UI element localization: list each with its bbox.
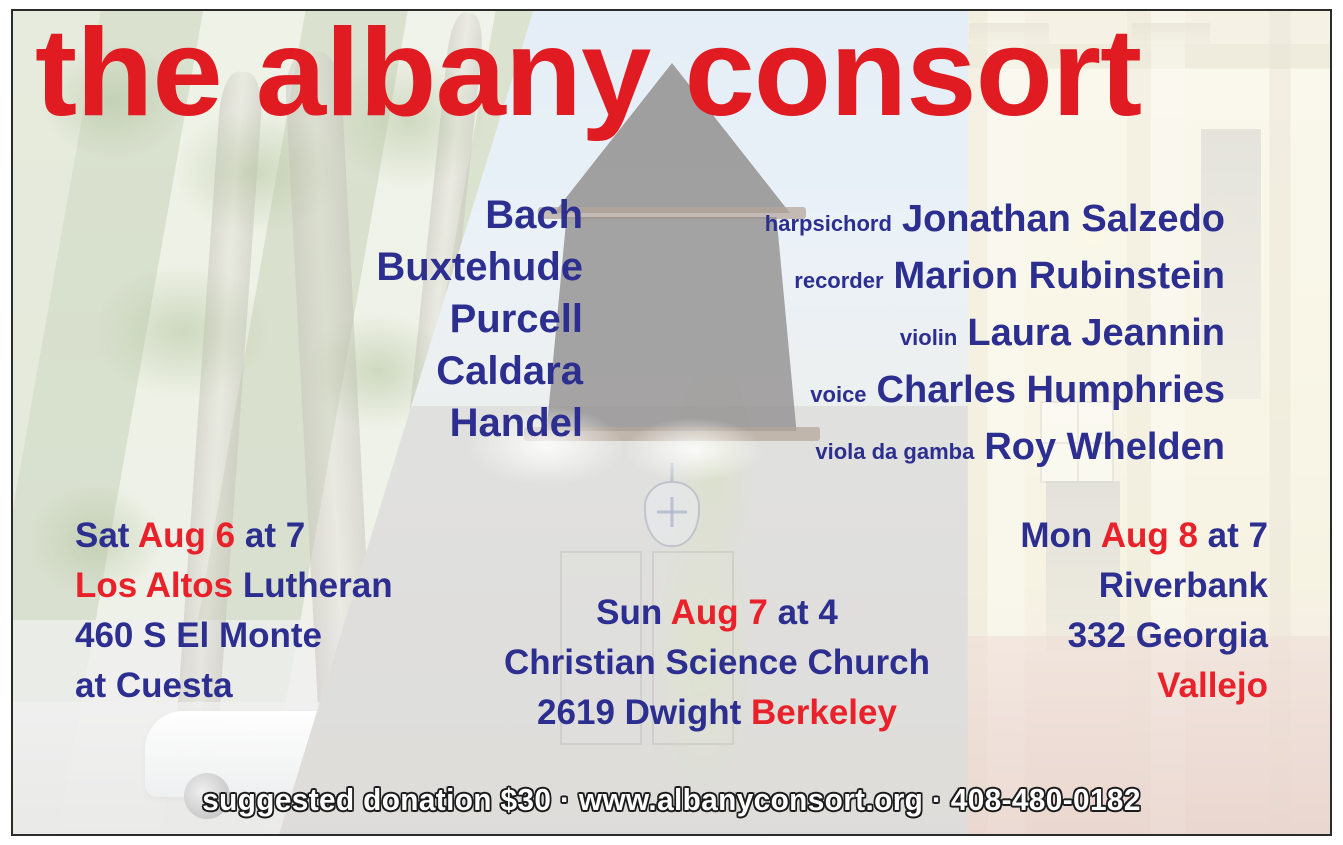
- concert-text: 2619 Dwight: [537, 693, 751, 732]
- poster-frame: the albany consort BachBuxtehudePurcellC…: [11, 9, 1332, 836]
- performer-row: recorderMarion Rubinstein: [625, 250, 1225, 307]
- concert-text: at 7: [1198, 516, 1268, 555]
- composer-name: Buxtehude: [253, 241, 583, 293]
- concert-text: 460 S El Monte: [75, 616, 322, 655]
- footer-info: suggested donation $30 · www.albanyconso…: [39, 782, 1303, 818]
- performer-row: viola da gambaRoy Whelden: [625, 421, 1225, 478]
- performer-row: harpsichordJonathan Salzedo: [625, 193, 1225, 250]
- concert-text: Riverbank: [1099, 566, 1268, 605]
- composer-name: Bach: [253, 189, 583, 241]
- concert-line: 460 S El Monte: [75, 611, 393, 661]
- concert-line: Christian Science Church: [447, 638, 987, 688]
- composer-name: Caldara: [253, 345, 583, 397]
- concert-text: Mon: [1020, 516, 1100, 555]
- concert-text: 332 Georgia: [1068, 616, 1268, 655]
- concert-text: at Cuesta: [75, 666, 233, 705]
- performer-name: Jonathan Salzedo: [902, 193, 1225, 245]
- performer-name: Marion Rubinstein: [894, 250, 1225, 302]
- concert-highlight-text: Vallejo: [1157, 666, 1268, 705]
- performer-name: Laura Jeannin: [967, 307, 1225, 359]
- composer-name: Handel: [253, 397, 583, 449]
- performer-name: Charles Humphries: [877, 364, 1225, 416]
- concert-listing-berkeley: Sun Aug 7 at 4Christian Science Church26…: [447, 588, 987, 738]
- concert-line: Vallejo: [1020, 661, 1268, 711]
- performer-instrument: violin: [900, 312, 957, 364]
- concert-line: Mon Aug 8 at 7: [1020, 511, 1268, 561]
- concert-highlight-text: Aug 7: [671, 593, 768, 632]
- performer-instrument: voice: [810, 369, 866, 421]
- concert-text: at 4: [768, 593, 838, 632]
- performer-instrument: viola da gamba: [815, 426, 974, 478]
- concert-line: Riverbank: [1020, 561, 1268, 611]
- concert-text: Sat: [75, 516, 138, 555]
- poster-content: the albany consort BachBuxtehudePurcellC…: [13, 11, 1330, 834]
- composer-name: Purcell: [253, 293, 583, 345]
- concert-highlight-text: Aug 6: [138, 516, 235, 555]
- concert-listing-vallejo: Mon Aug 8 at 7Riverbank332 GeorgiaVallej…: [1020, 511, 1268, 711]
- concert-line: 332 Georgia: [1020, 611, 1268, 661]
- concert-line: Sat Aug 6 at 7: [75, 511, 393, 561]
- page-title: the albany consort: [35, 9, 1332, 139]
- concert-line: at Cuesta: [75, 661, 393, 711]
- concert-text: Sun: [596, 593, 671, 632]
- concert-line: Sun Aug 7 at 4: [447, 588, 987, 638]
- concert-text: Lutheran: [233, 566, 392, 605]
- poster: the albany consort BachBuxtehudePurcellC…: [0, 0, 1343, 845]
- performers-list: harpsichordJonathan SalzedorecorderMario…: [625, 193, 1225, 478]
- concert-line: 2619 Dwight Berkeley: [447, 688, 987, 738]
- performer-row: violinLaura Jeannin: [625, 307, 1225, 364]
- concert-highlight-text: Los Altos: [75, 566, 233, 605]
- concert-text: Christian Science Church: [504, 643, 930, 682]
- concert-text: at 7: [235, 516, 305, 555]
- performer-row: voiceCharles Humphries: [625, 364, 1225, 421]
- concert-highlight-text: Berkeley: [751, 693, 897, 732]
- composers-list: BachBuxtehudePurcellCaldaraHandel: [253, 189, 583, 449]
- concert-line: Los Altos Lutheran: [75, 561, 393, 611]
- performer-instrument: harpsichord: [765, 198, 892, 250]
- concert-highlight-text: Aug 8: [1101, 516, 1198, 555]
- concert-listing-los-altos: Sat Aug 6 at 7Los Altos Lutheran460 S El…: [75, 511, 393, 711]
- performer-name: Roy Whelden: [984, 421, 1225, 473]
- performer-instrument: recorder: [794, 255, 883, 307]
